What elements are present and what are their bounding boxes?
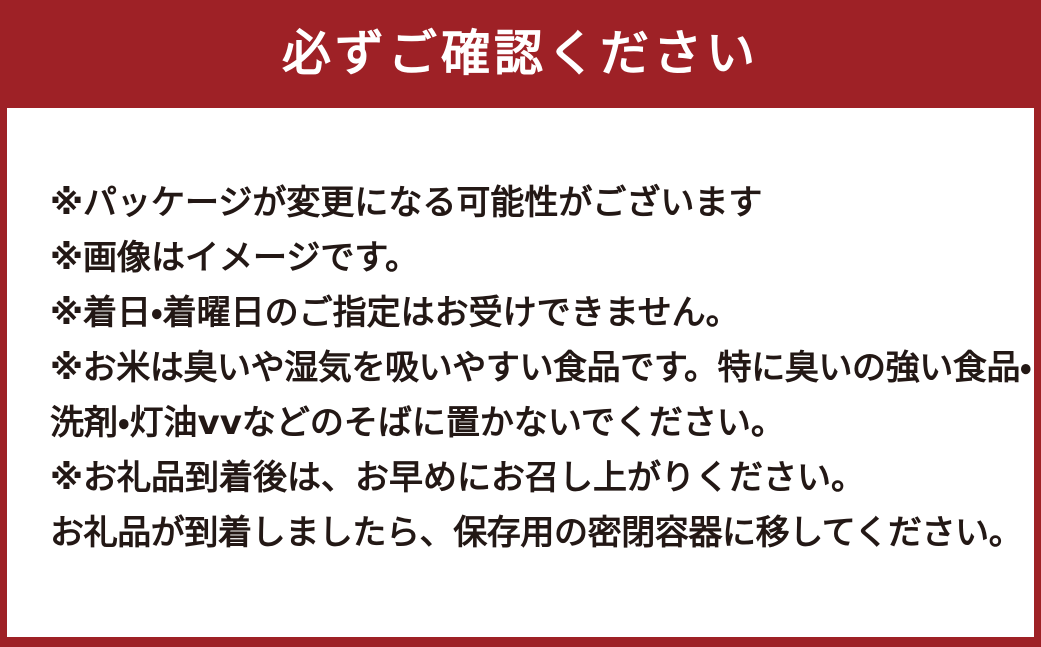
notice-line: ※着日・着曜日のご指定はお受けできません。 — [50, 286, 1024, 341]
page-title: 必ずご確認ください — [282, 29, 759, 78]
notice-line: ※お礼品到着後は、お早めにお召し上がりください。 — [50, 451, 1024, 506]
notice-line: ※画像はイメージです。 — [50, 231, 1024, 286]
notice-line: 洗剤・灯油vvなどのそばに置かないでください。 — [50, 396, 1024, 451]
notice-line: お礼品が到着しましたら、保存用の密閉容器に移してください。 — [50, 506, 1024, 561]
notice-list: ※パッケージが変更になる可能性がございます ※画像はイメージです。 ※着日・着曜… — [50, 176, 1024, 561]
notice-body-panel: ※パッケージが変更になる可能性がございます ※画像はイメージです。 ※着日・着曜… — [7, 108, 1034, 637]
notice-line: ※お米は臭いや湿気を吸いやすい食品です。特に臭いの強い食品・ — [50, 341, 1024, 396]
notice-header-banner: 必ずご確認ください — [0, 0, 1041, 108]
notice-card: 必ずご確認ください ※パッケージが変更になる可能性がございます ※画像はイメージ… — [0, 0, 1041, 647]
notice-line: ※パッケージが変更になる可能性がございます — [50, 176, 1024, 231]
